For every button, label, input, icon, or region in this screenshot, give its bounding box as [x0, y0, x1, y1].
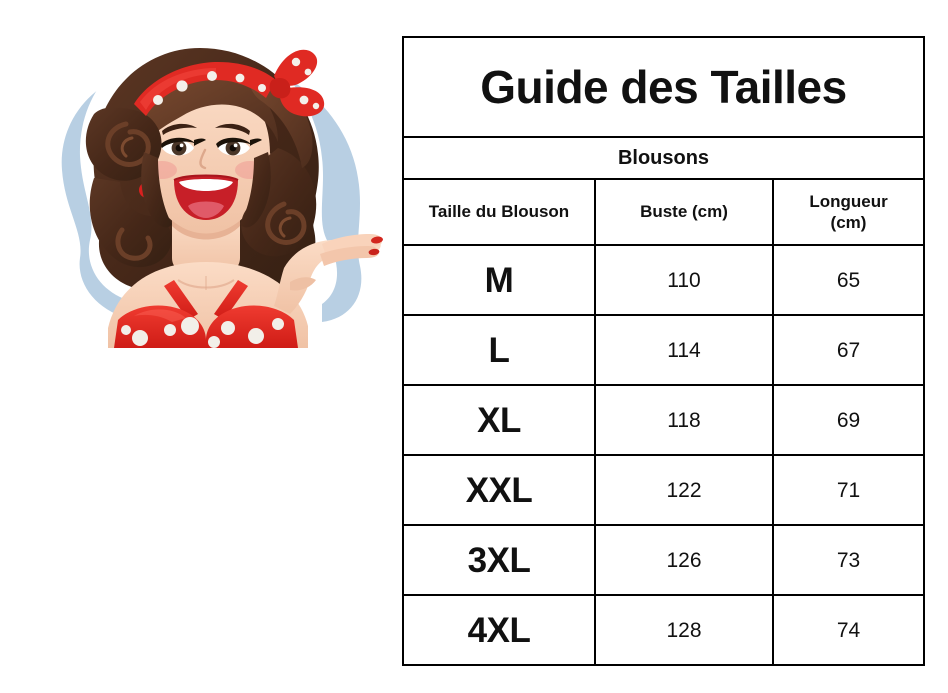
- column-header-length-line1: Longueur: [809, 192, 887, 211]
- table-row: M 110 65: [403, 245, 924, 315]
- column-header-size: Taille du Blouson: [403, 179, 595, 245]
- table-header-row: Taille du Blouson Buste (cm) Longueur (c…: [403, 179, 924, 245]
- size-guide-table-container: Guide des Tailles Blousons Taille du Blo…: [402, 36, 923, 646]
- cell-length: 67: [773, 315, 924, 385]
- cell-size: M: [403, 245, 595, 315]
- size-guide-page: Guide des Tailles Blousons Taille du Blo…: [0, 0, 948, 693]
- cell-length: 73: [773, 525, 924, 595]
- cell-bust: 122: [595, 455, 773, 525]
- cell-bust: 110: [595, 245, 773, 315]
- page-title: Guide des Tailles: [403, 37, 924, 137]
- cell-length: 69: [773, 385, 924, 455]
- cell-length: 74: [773, 595, 924, 665]
- cell-size: XL: [403, 385, 595, 455]
- cell-bust: 118: [595, 385, 773, 455]
- cell-length: 65: [773, 245, 924, 315]
- cell-size: 4XL: [403, 595, 595, 665]
- cell-bust: 126: [595, 525, 773, 595]
- category-subtitle: Blousons: [403, 137, 924, 179]
- column-header-length-line2: (cm): [831, 213, 867, 232]
- table-row: 3XL 126 73: [403, 525, 924, 595]
- column-header-length: Longueur (cm): [773, 179, 924, 245]
- table-title-row: Guide des Tailles: [403, 37, 924, 137]
- table-subtitle-row: Blousons: [403, 137, 924, 179]
- cell-size: 3XL: [403, 525, 595, 595]
- table-row: XL 118 69: [403, 385, 924, 455]
- pin-up-woman-illustration: [22, 18, 392, 348]
- pin-up-woman-graphic: [22, 18, 392, 348]
- table-row: 4XL 128 74: [403, 595, 924, 665]
- size-guide-table: Guide des Tailles Blousons Taille du Blo…: [402, 36, 925, 666]
- table-row: L 114 67: [403, 315, 924, 385]
- table-row: XXL 122 71: [403, 455, 924, 525]
- column-header-bust: Buste (cm): [595, 179, 773, 245]
- cell-length: 71: [773, 455, 924, 525]
- cell-bust: 114: [595, 315, 773, 385]
- cell-bust: 128: [595, 595, 773, 665]
- cell-size: L: [403, 315, 595, 385]
- cell-size: XXL: [403, 455, 595, 525]
